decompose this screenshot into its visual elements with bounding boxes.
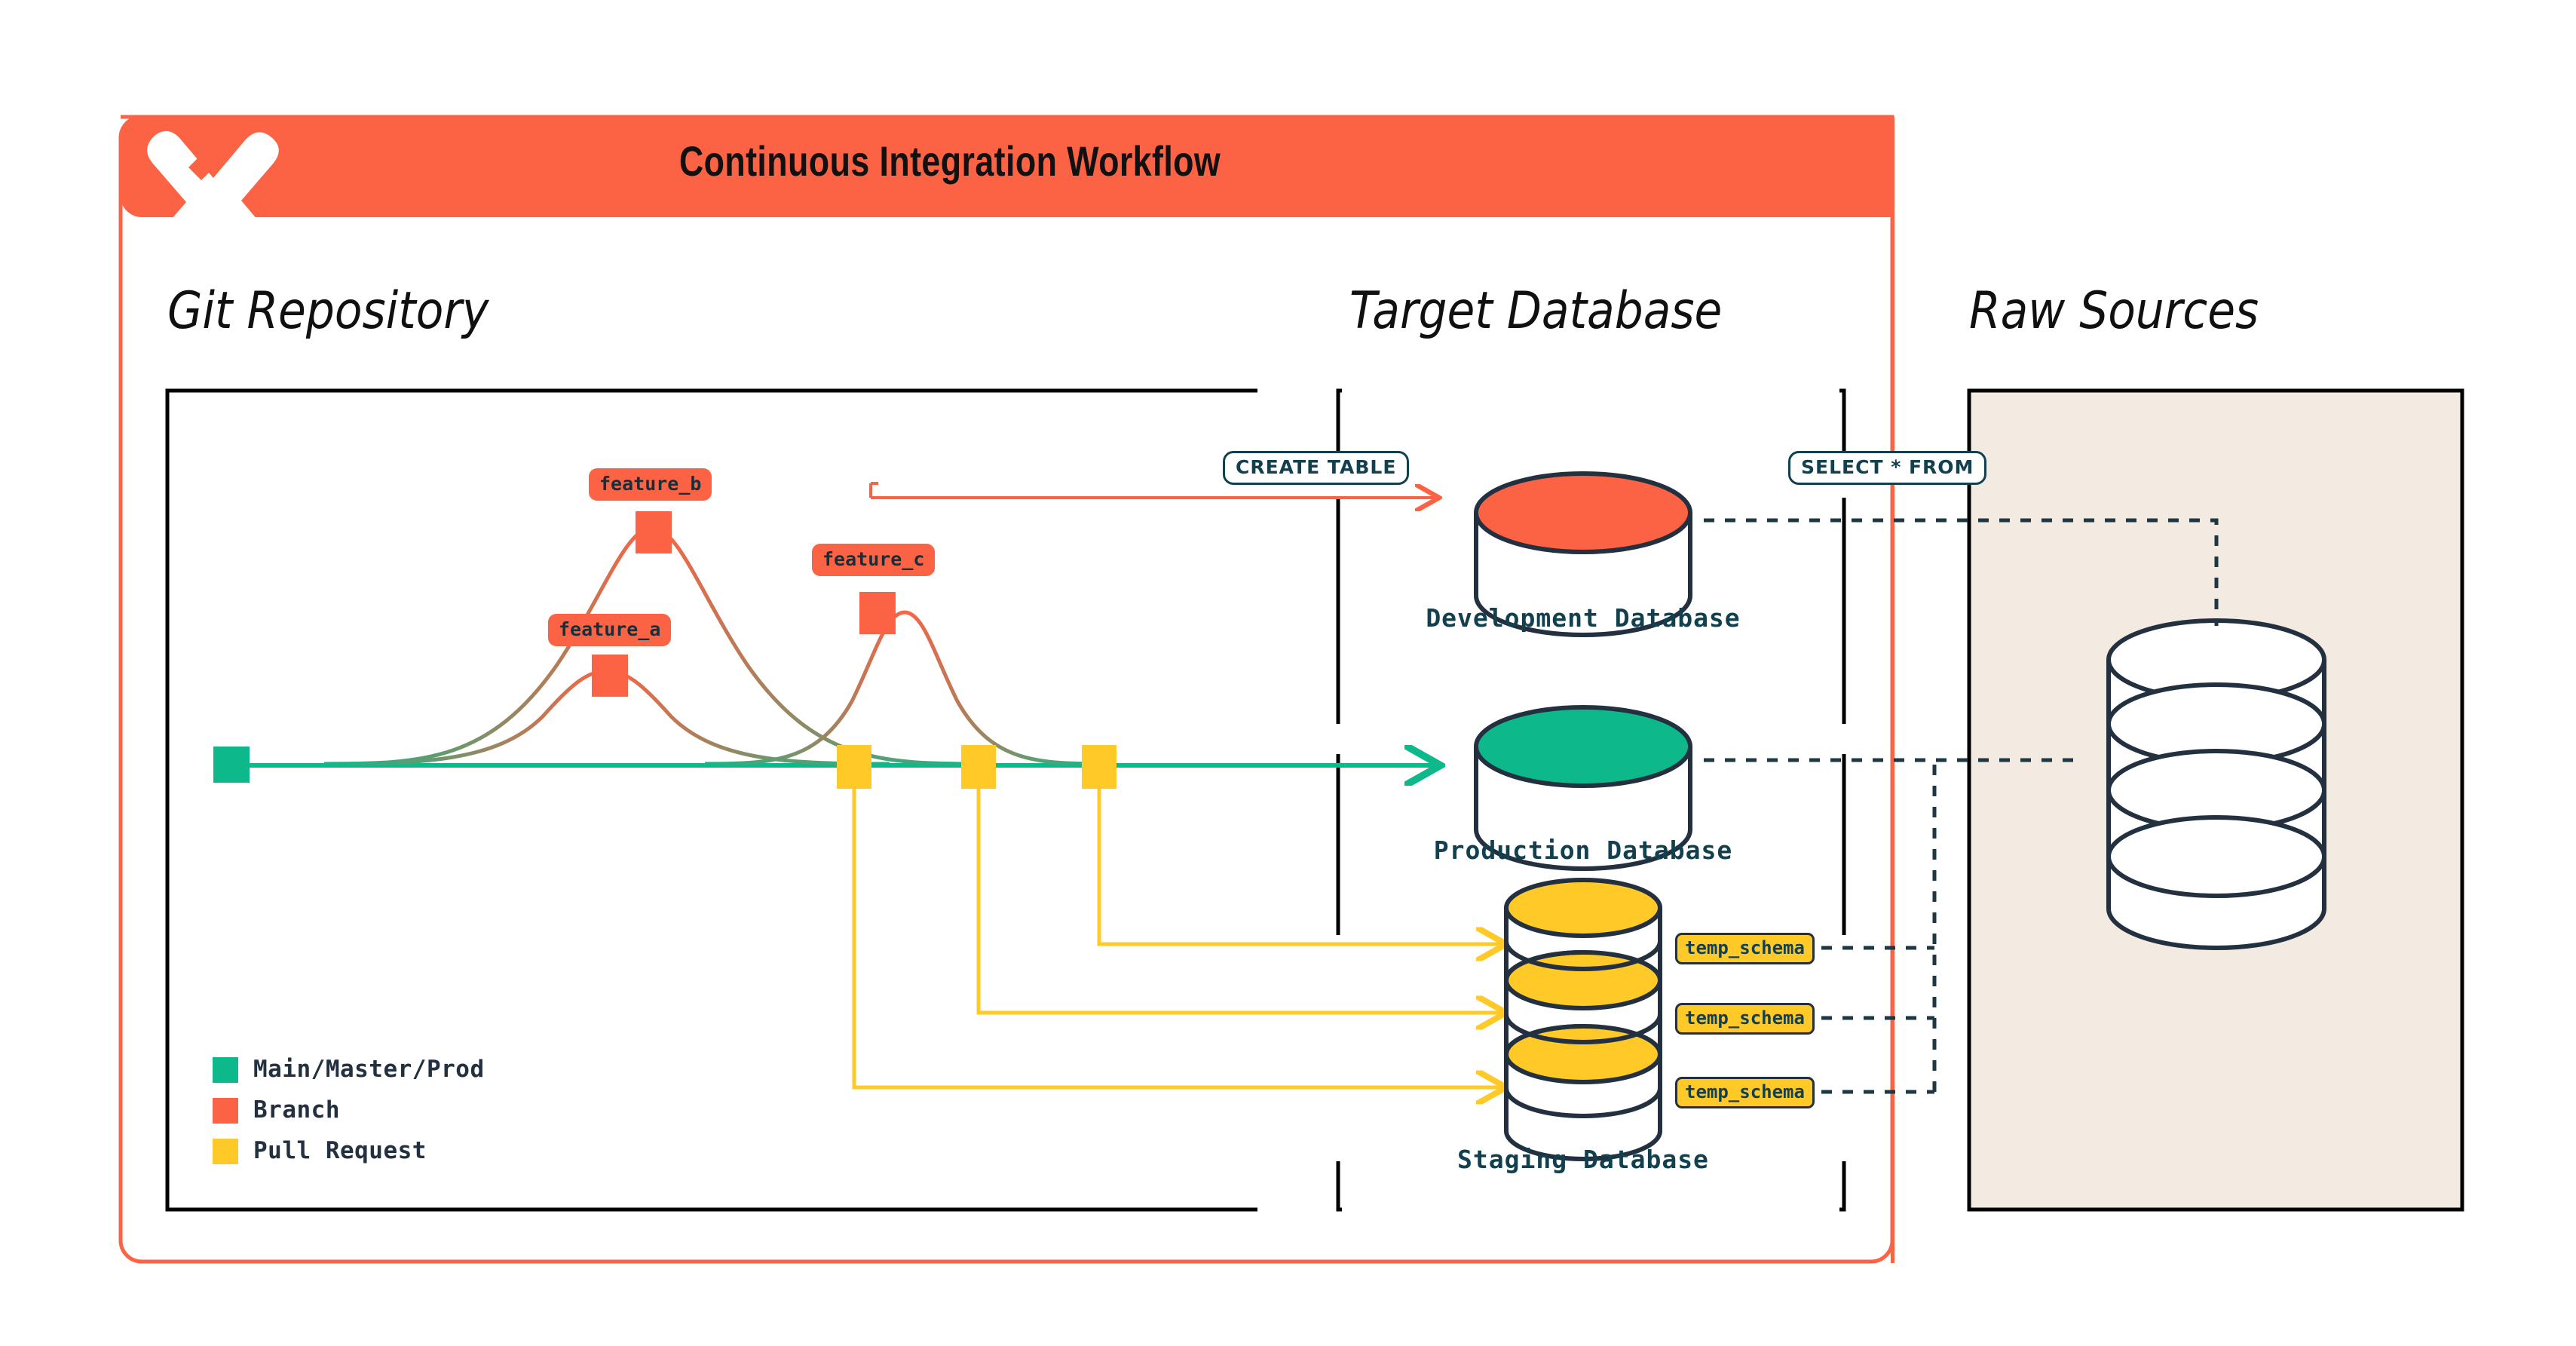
pull-request-node-2: [961, 745, 996, 789]
branch-label-feature-c[interactable]: feature_c: [812, 544, 935, 576]
feature-a-node: [592, 655, 628, 697]
section-heading-target: Target Database: [1349, 281, 1722, 341]
staging-database-icon: [1506, 880, 1660, 1159]
legend-swatch-main: [213, 1057, 238, 1083]
legend-swatch-branch: [213, 1098, 238, 1124]
database-label-production: Production Database: [1395, 836, 1772, 865]
legend-swatch-pr: [213, 1139, 238, 1164]
raw-source-cylinder-icon: [2109, 621, 2324, 948]
database-label-development: Development Database: [1395, 603, 1772, 633]
section-heading-git: Git Repository: [167, 281, 489, 341]
legend-label-branch: Branch: [253, 1096, 340, 1124]
branch-label-feature-a[interactable]: feature_a: [548, 614, 671, 646]
sql-tag-create-table[interactable]: CREATE TABLE: [1223, 451, 1409, 485]
feature-c-node: [859, 592, 896, 634]
section-heading-raw: Raw Sources: [1969, 281, 2259, 341]
legend-label-main: Main/Master/Prod: [253, 1056, 485, 1083]
database-label-staging: Staging Database: [1395, 1145, 1772, 1174]
page-title: Continuous Integration Workflow: [190, 136, 1710, 185]
legend-label-pr: Pull Request: [253, 1137, 427, 1164]
diagram-canvas: Continuous Integration Workflow Git Repo…: [0, 0, 2576, 1346]
feature-b-node: [636, 511, 672, 553]
pull-request-node-3: [1082, 745, 1116, 789]
schema-tag-3[interactable]: temp_schema: [1675, 1077, 1815, 1108]
schema-tag-1[interactable]: temp_schema: [1675, 933, 1815, 964]
branch-label-feature-b[interactable]: feature_b: [589, 468, 712, 501]
sql-tag-select-from[interactable]: SELECT * FROM: [1788, 451, 1986, 485]
staging-schema-dotted: [1695, 760, 1934, 1092]
pr-to-staging-3: [854, 789, 1502, 1087]
pull-request-node-1: [837, 745, 871, 789]
schema-tag-2[interactable]: temp_schema: [1675, 1003, 1815, 1035]
pr-to-staging-2: [979, 789, 1502, 1013]
pr-to-staging-1: [1099, 789, 1502, 944]
main-commit-node: [213, 747, 250, 783]
